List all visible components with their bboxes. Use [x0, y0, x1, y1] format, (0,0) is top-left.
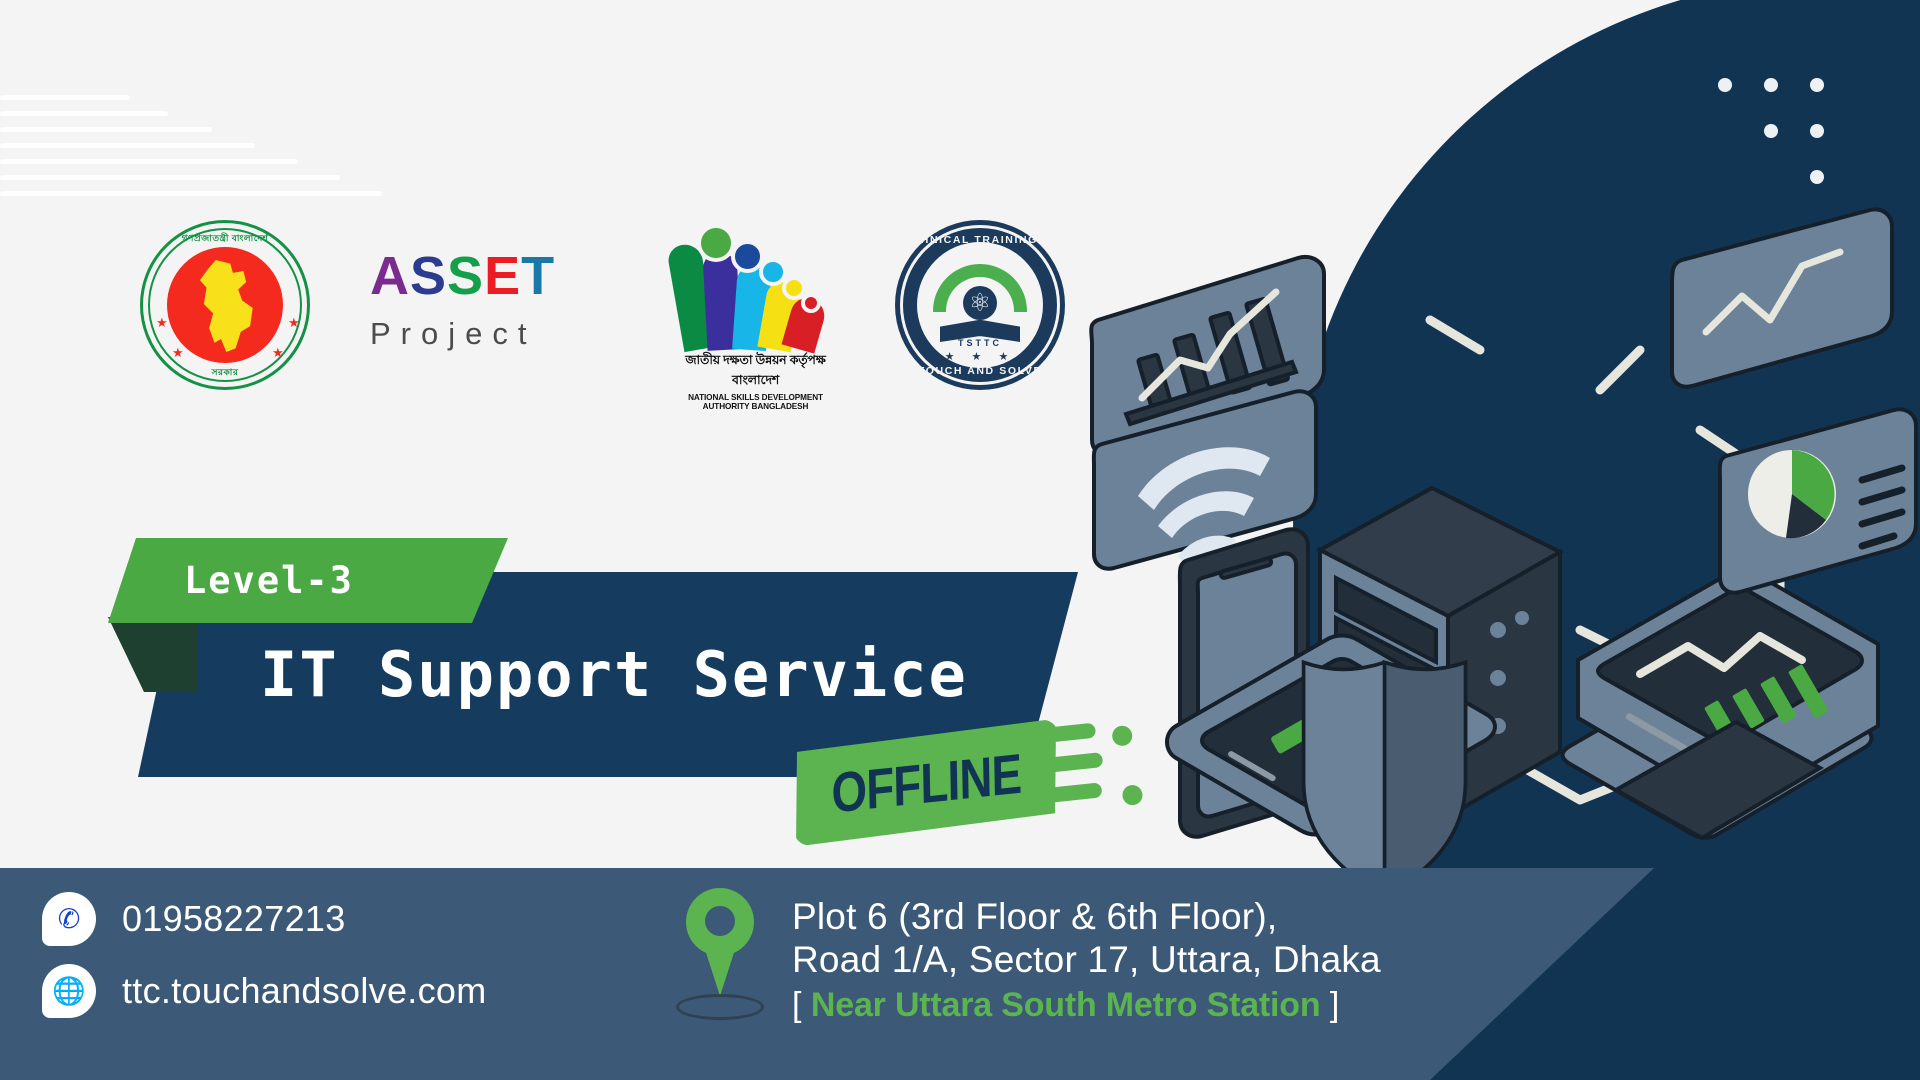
seal-arc-bottom: সরকার [140, 365, 310, 380]
asset-letter-a: A [370, 254, 410, 298]
asset-letter-s2: S [447, 254, 484, 298]
ttc-arc-top: TECHNICAL TRAINING CENTER [895, 234, 1065, 246]
phone-icon: ✆ [42, 892, 96, 946]
nsda-logo: জাতীয় দক্ষতা উন্নয়ন কর্তৃপক্ষ বাংলাদেশ… [668, 220, 843, 411]
globe-icon: 🌐 [42, 964, 96, 1018]
seal-star-icon: ★ [288, 316, 300, 329]
landmark-line: [ Near Uttara South Metro Station ] [792, 986, 1381, 1025]
level-label: Level-3 [184, 559, 354, 602]
isometric-it-infrastructure: .st-dark{fill:#2b3643;stroke:#15202b;str… [1080, 200, 1920, 880]
footer-bar: ✆ 01958227213 🌐 ttc.touchandsolve.com Pl… [0, 868, 1920, 1080]
address-line-2: Road 1/A, Sector 17, Uttara, Dhaka [792, 939, 1381, 982]
nsda-label-en: NATIONAL SKILLS DEVELOPMENT AUTHORITY BA… [668, 393, 843, 411]
map-pin-icon [672, 882, 768, 1032]
level-ribbon-fold [108, 617, 198, 692]
phone-number: 01958227213 [122, 898, 346, 940]
seal-arc-top: গণপ্রজাতন্ত্রী বাংলাদেশ [140, 231, 310, 246]
landmark-text: Near Uttara South Metro Station [811, 986, 1321, 1024]
website-row[interactable]: 🌐 ttc.touchandsolve.com [42, 964, 487, 1018]
laptop [1563, 570, 1879, 838]
landmark-bracket-open: [ [792, 986, 801, 1024]
asset-letter-s1: S [410, 254, 447, 298]
ttc-arc-bottom: TOUCH AND SOLVE [895, 365, 1065, 377]
seal-star-icon: ★ [156, 316, 168, 329]
status-badge-label: OFFLINE [831, 740, 1022, 825]
asset-subtitle: Project [370, 316, 620, 352]
contact-block: ✆ 01958227213 🌐 ttc.touchandsolve.com [42, 892, 487, 1036]
logo-row: গণপ্রজাতন্ত্রী বাংলাদেশ সরকার ★ ★ ★ ★ A … [140, 220, 1065, 380]
asset-letter-t: T [521, 254, 555, 298]
asset-wordmark: A S S E T [370, 250, 620, 298]
seal-star-icon: ★ [272, 346, 284, 359]
landmark-bracket-close: ] [1330, 986, 1339, 1024]
asset-project-logo: A S S E T Project [370, 220, 620, 352]
status-badge-tag: OFFLINE [786, 719, 1067, 847]
ttc-stars: ★ ★ ★ [895, 350, 1065, 363]
ttc-code: TSTTC [895, 338, 1065, 348]
nsda-label-bn: জাতীয় দক্ষতা উন্নয়ন কর্তৃপক্ষ বাংলাদেশ [668, 352, 843, 392]
bangladesh-government-seal: গণপ্রজাতন্ত্রী বাংলাদেশ সরকার ★ ★ ★ ★ [140, 220, 310, 390]
nsda-people-fan-icon [675, 220, 837, 350]
asset-letter-e: E [484, 254, 521, 298]
seal-star-icon: ★ [172, 346, 184, 359]
atom-icon [963, 286, 997, 320]
decorative-dots [1718, 78, 1848, 188]
line-chart-card [1672, 209, 1892, 386]
address-block: Plot 6 (3rd Floor & 6th Floor), Road 1/A… [672, 882, 1381, 1032]
phone-row[interactable]: ✆ 01958227213 [42, 892, 487, 946]
page-title: IT Support Service [260, 638, 968, 711]
decorative-lines [0, 95, 400, 225]
website-url: ttc.touchandsolve.com [122, 970, 487, 1012]
banner-root: গণপ্রজাতন্ত্রী বাংলাদেশ সরকার ★ ★ ★ ★ A … [0, 0, 1920, 1080]
technical-training-center-badge: TSTTC ★ ★ ★ TECHNICAL TRAINING CENTER TO… [895, 220, 1065, 390]
level-ribbon: Level-3 [108, 538, 508, 623]
shield [1304, 662, 1466, 880]
pie-chart-card [1720, 409, 1916, 592]
address-line-1: Plot 6 (3rd Floor & 6th Floor), [792, 896, 1381, 939]
